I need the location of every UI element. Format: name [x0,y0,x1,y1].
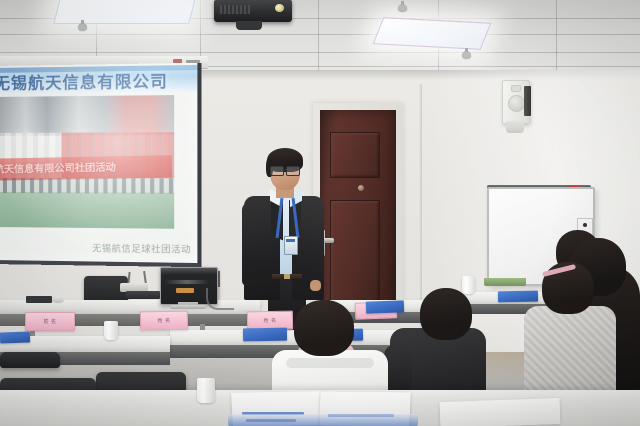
fire-sprinkler-icon [78,23,87,30]
paper-cup [104,321,118,340]
orange-desk-item [176,288,194,293]
presenter-glasses-icon [270,166,300,174]
blue-notebook [0,331,30,343]
ceiling-projector [214,0,292,22]
name-card: 姓 名 [25,312,75,331]
slide-caption: 无锡航信足球社团活动 [92,241,191,256]
glasses-lens-left [270,166,284,176]
projection-screen: 无锡航天信息有限公司 航天信息有限公司社团活动 无锡航信足球社团活动 [0,63,202,267]
badge-strip [286,239,295,242]
equipment-antenna [218,271,220,287]
fire-sprinkler-icon [462,51,471,58]
presenter-belt-buckle [284,274,290,279]
photo-background [0,95,174,136]
speaker-driver-icon [508,95,525,112]
keyboard-device[interactable] [126,291,160,299]
speaker-tweeter-icon [511,85,521,92]
ceiling-light-panel-right [373,17,492,50]
monitor-sheen [165,280,209,284]
speaker-bracket [524,86,531,116]
whiteboard-tray [484,278,526,286]
student-head [420,288,472,340]
projector-vent [220,5,250,14]
door-panel-lower [330,200,380,308]
wooden-door[interactable] [320,110,396,318]
fire-sprinkler-icon [398,4,407,11]
slide-title: 无锡航天信息有限公司 [0,67,189,94]
name-card-text: 姓 名 [43,318,56,325]
name-card: 姓 名 [140,311,188,331]
presenter-id-badge [284,236,298,255]
student-arm [384,344,412,394]
projector-lens-icon [275,4,284,12]
name-card-text: 姓 名 [157,317,170,324]
book-edge [228,414,418,426]
slide-photo: 航天信息有限公司社团活动 [0,95,174,229]
equipment-cable [206,288,234,310]
presenter-hand [310,280,321,291]
door-peephole-icon [358,185,364,191]
student-head [294,300,354,356]
foreground-chair[interactable] [0,352,60,368]
classroom-scene: 无锡航天信息有限公司 航天信息有限公司社团活动 无锡航信足球社团活动 [0,0,640,426]
computer-mouse[interactable] [52,296,64,303]
monitor-base [170,305,206,309]
door-panel-upper [330,132,380,178]
paper-cup [197,378,215,403]
glasses-lens-right [286,166,300,176]
paper-sheet [440,398,561,426]
ceiling-light-panel-left [53,0,198,24]
black-desk-item [26,296,52,303]
speaker-base [506,121,524,133]
student-hood-fold [286,358,374,368]
projector-mount [236,21,262,30]
photo-field [0,192,174,229]
